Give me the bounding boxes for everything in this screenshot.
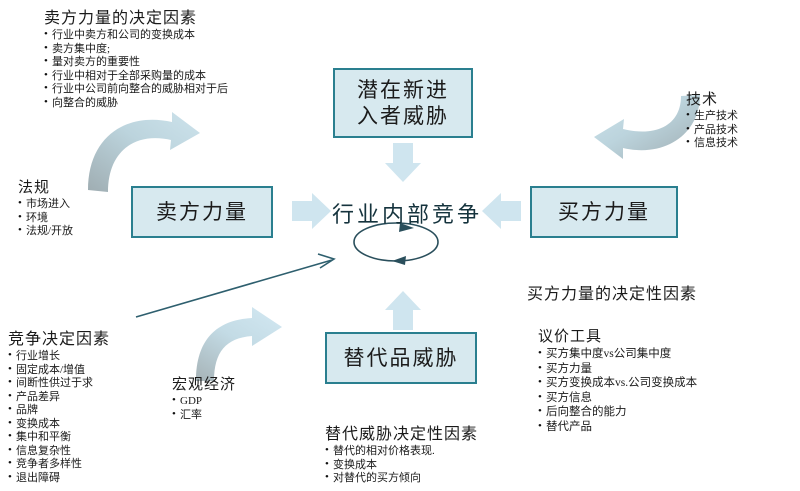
panel-supplier-determinants: 卖方力量的决定因素 行业中卖方和公司的变换成本 卖方集中度; 量对卖方的重要性 … xyxy=(44,4,228,110)
list-item: 行业增长 xyxy=(8,350,110,364)
panel-buyer-bargaining-tools: 议价工具 买方集中度vs公司集中度 买方力量 买方变换成本vs.公司变换成本 买… xyxy=(538,325,697,434)
box-new-entrants[interactable]: 潜在新进 入者威胁 xyxy=(333,68,473,138)
list-item: 法规/开放 xyxy=(18,225,73,239)
list-item: 变换成本 xyxy=(325,459,478,473)
panel-supplier-determinants-list: 行业中卖方和公司的变换成本 卖方集中度; 量对卖方的重要性 行业中相对于全部采购… xyxy=(44,29,228,110)
box-substitutes-label: 替代品威胁 xyxy=(344,345,459,371)
list-item: 替代的相对价格表现. xyxy=(325,445,478,459)
panel-substitute-determinants-list: 替代的相对价格表现. 变换成本 对替代的买方倾向 xyxy=(325,445,478,486)
list-item: 行业中相对于全部采购量的成本 xyxy=(44,70,228,84)
list-item: 产品技术 xyxy=(686,124,738,138)
list-item: 环境 xyxy=(18,212,73,226)
line-arrow-competition xyxy=(136,254,334,317)
list-item: 生产技术 xyxy=(686,110,738,124)
box-new-entrants-line2: 入者威胁 xyxy=(357,103,449,129)
box-supplier-power-label: 卖方力量 xyxy=(156,199,248,225)
panel-technology-list: 生产技术 产品技术 信息技术 xyxy=(686,110,738,151)
list-item: 买方信息 xyxy=(538,391,697,406)
list-item: 变换成本 xyxy=(8,418,110,432)
list-item: 行业中卖方和公司的变换成本 xyxy=(44,29,228,43)
panel-substitute-determinants: 替代威胁决定性因素 替代的相对价格表现. 变换成本 对替代的买方倾向 xyxy=(325,420,478,486)
list-item: 向整合的威胁 xyxy=(44,97,228,111)
panel-regulation-heading: 法规 xyxy=(18,176,73,197)
panel-buyer-determinants: 买方力量的决定性因素 xyxy=(527,280,697,305)
block-arrow-right-supplier xyxy=(292,193,331,229)
list-item: 退出障碍 xyxy=(8,472,110,486)
block-arrow-left-buyer xyxy=(482,193,521,229)
block-arrow-up-substitutes xyxy=(385,291,421,330)
panel-substitute-determinants-heading: 替代威胁决定性因素 xyxy=(325,420,478,444)
list-item: 品牌 xyxy=(8,404,110,418)
box-buyer-power-label: 买方力量 xyxy=(558,199,650,225)
list-item: 替代产品 xyxy=(538,420,697,435)
curved-arrow-macro-economy xyxy=(196,307,282,381)
block-arrow-down-new-entrants xyxy=(385,143,421,182)
list-item: 集中和平衡 xyxy=(8,431,110,445)
list-item: 固定成本/增值 xyxy=(8,364,110,378)
panel-regulation-list: 市场进入 环境 法规/开放 xyxy=(18,198,73,239)
panel-macro-economy: 宏观经济 GDP 汇率 xyxy=(172,373,236,422)
curved-arrow-technology xyxy=(594,95,700,159)
curved-arrow-regulation xyxy=(88,112,200,192)
panel-competition-determinants-heading: 竞争决定因素 xyxy=(8,325,110,349)
list-item: 量对卖方的重要性 xyxy=(44,56,228,70)
panel-buyer-determinants-heading: 买方力量的决定性因素 xyxy=(527,280,697,304)
porter-five-forces-diagram: 潜在新进 入者威胁 卖方力量 买方力量 替代品威胁 行业内部竞争 卖方力量的决定… xyxy=(0,0,800,491)
list-item: 卖方集中度; xyxy=(44,43,228,57)
panel-regulation: 法规 市场进入 环境 法规/开放 xyxy=(18,176,73,239)
panel-macro-economy-heading: 宏观经济 xyxy=(172,373,236,394)
list-item: 产品差异 xyxy=(8,391,110,405)
box-new-entrants-line1: 潜在新进 xyxy=(357,77,449,103)
panel-macro-economy-list: GDP 汇率 xyxy=(172,395,236,422)
panel-competition-determinants-list: 行业增长 固定成本/增值 间断性供过于求 产品差异 品牌 变换成本 集中和平衡 … xyxy=(8,350,110,485)
list-item: 汇率 xyxy=(172,409,236,423)
list-item: 后向整合的能力 xyxy=(538,405,697,420)
center-label-industry-rivalry: 行业内部竞争 xyxy=(332,197,482,229)
list-item: 买方集中度vs公司集中度 xyxy=(538,347,697,362)
list-item: 信息复杂性 xyxy=(8,445,110,459)
list-item: 信息技术 xyxy=(686,137,738,151)
list-item: 竞争者多样性 xyxy=(8,458,110,472)
list-item: 对替代的买方倾向 xyxy=(325,472,478,486)
panel-technology-heading: 技术 xyxy=(686,88,738,109)
panel-competition-determinants: 竞争决定因素 行业增长 固定成本/增值 间断性供过于求 产品差异 品牌 变换成本… xyxy=(8,325,110,485)
panel-buyer-subheading: 议价工具 xyxy=(538,325,697,346)
list-item: 买方力量 xyxy=(538,362,697,377)
box-buyer-power[interactable]: 买方力量 xyxy=(530,186,678,238)
list-item: 市场进入 xyxy=(18,198,73,212)
list-item: 间断性供过于求 xyxy=(8,377,110,391)
rivalry-loop-icon xyxy=(354,223,438,265)
list-item: GDP xyxy=(172,395,236,409)
list-item: 买方变换成本vs.公司变换成本 xyxy=(538,376,697,391)
box-substitutes[interactable]: 替代品威胁 xyxy=(325,332,477,384)
panel-technology: 技术 生产技术 产品技术 信息技术 xyxy=(686,88,738,151)
box-supplier-power[interactable]: 卖方力量 xyxy=(131,186,273,238)
panel-buyer-determinants-list: 买方集中度vs公司集中度 买方力量 买方变换成本vs.公司变换成本 买方信息 后… xyxy=(538,347,697,434)
list-item: 行业中公司前向整合的威胁相对于后 xyxy=(44,83,228,97)
panel-supplier-determinants-heading: 卖方力量的决定因素 xyxy=(44,4,228,28)
